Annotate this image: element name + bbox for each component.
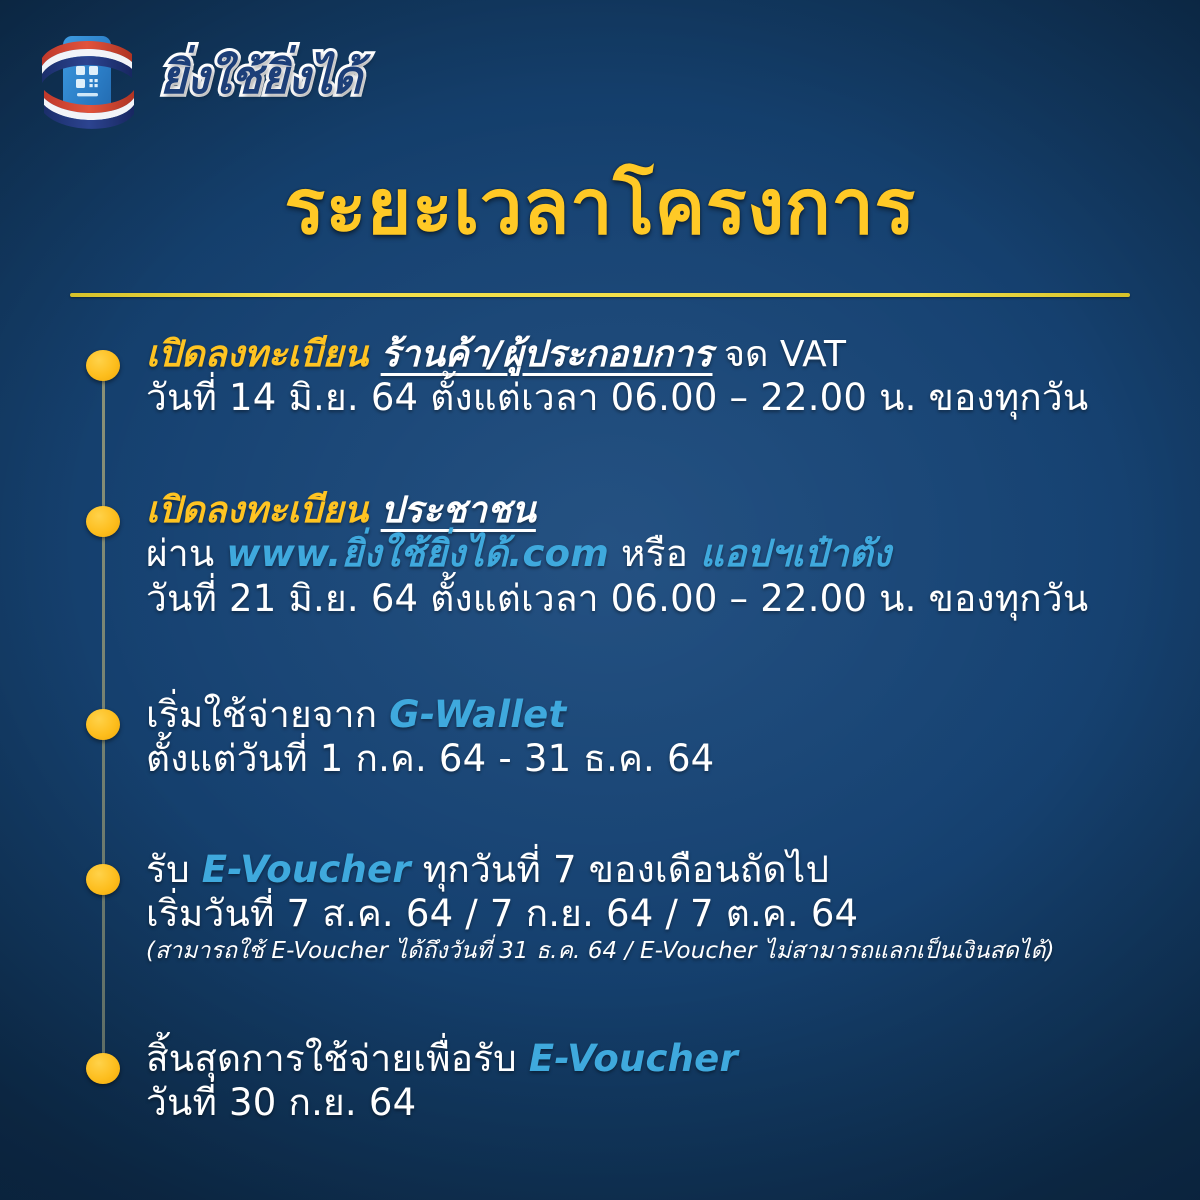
brand-header: ยิ่งใช้ยิ่งได้ [34, 24, 362, 136]
timeline-text-segment: จด VAT [712, 334, 846, 375]
timeline-text-segment: ร้านค้า/ผู้ประกอบการ [381, 334, 713, 375]
timeline-dot-icon [86, 506, 120, 537]
timeline-line: ผ่าน www.ยิ่งใช้ยิ่งได้.com หรือ แอปฯเป๋… [146, 532, 1186, 576]
timeline-text-segment: รับ [146, 848, 202, 891]
timeline-text-segment: ตั้งแต่วันที่ 1 ก.ค. 64 - 31 ธ.ค. 64 [146, 737, 714, 780]
timeline-text-segment: www.ยิ่งใช้ยิ่งได้.com [226, 532, 609, 575]
timeline-line: วันที่ 14 มิ.ย. 64 ตั้งแต่เวลา 06.00 – 2… [146, 376, 1186, 420]
title-divider [70, 293, 1130, 297]
brand-wordmark: ยิ่งใช้ยิ่งได้ [160, 54, 362, 106]
timeline-dot-icon [86, 350, 120, 381]
timeline-text-segment: ทุกวันที่ 7 ของเดือนถัดไป [411, 848, 829, 891]
timeline-line: รับ E-Voucher ทุกวันที่ 7 ของเดือนถัดไป [146, 848, 1186, 892]
timeline-text-segment: เปิดลงทะเบียน [146, 334, 381, 375]
timeline-line: เปิดลงทะเบียน ร้านค้า/ผู้ประกอบการ จด VA… [146, 334, 1186, 376]
timeline-text-segment: เปิดลงทะเบียน [146, 490, 381, 531]
timeline-line: เริ่มวันที่ 7 ส.ค. 64 / 7 ก.ย. 64 / 7 ต.… [146, 892, 1186, 936]
timeline-text-segment: ประชาชน [381, 490, 536, 531]
timeline-dot-icon [86, 1053, 120, 1084]
timeline-text-segment: E-Voucher [202, 848, 411, 891]
timeline-line: เริ่มใช้จ่ายจาก G-Wallet [146, 693, 1186, 737]
timeline-line: ตั้งแต่วันที่ 1 ก.ค. 64 - 31 ธ.ค. 64 [146, 737, 1186, 781]
page-title: ระยะเวลาโครงการ [0, 166, 1200, 248]
timeline-text-segment: สิ้นสุดการใช้จ่ายเพื่อรับ [146, 1037, 529, 1080]
timeline-text-segment: ผ่าน [146, 532, 226, 575]
timeline-line: วันที่ 21 มิ.ย. 64 ตั้งแต่เวลา 06.00 – 2… [146, 577, 1186, 621]
timeline-text-segment: วันที่ 21 มิ.ย. 64 ตั้งแต่เวลา 06.00 – 2… [146, 577, 1088, 620]
poster-canvas: ยิ่งใช้ยิ่งได้ ระยะเวลาโครงการ เปิดลงทะเ… [0, 0, 1200, 1200]
timeline-text-segment: G-Wallet [389, 693, 566, 736]
timeline-text-segment: เริ่มวันที่ 7 ส.ค. 64 / 7 ก.ย. 64 / 7 ต.… [146, 892, 858, 935]
timeline-item-body: รับ E-Voucher ทุกวันที่ 7 ของเดือนถัดไปเ… [146, 848, 1186, 966]
timeline-line: เปิดลงทะเบียน ประชาชน [146, 490, 1186, 532]
timeline-item-body: เริ่มใช้จ่ายจาก G-Walletตั้งแต่วันที่ 1 … [146, 693, 1186, 782]
timeline-text-segment: วันที่ 30 ก.ย. 64 [146, 1081, 416, 1124]
timeline-item-body: เปิดลงทะเบียน ร้านค้า/ผู้ประกอบการ จด VA… [146, 334, 1186, 421]
timeline-text-segment: เริ่มใช้จ่ายจาก [146, 693, 389, 736]
timeline-line: วันที่ 30 ก.ย. 64 [146, 1081, 1186, 1125]
timeline-text-segment: วันที่ 14 มิ.ย. 64 ตั้งแต่เวลา 06.00 – 2… [146, 376, 1088, 419]
timeline-text-segment: (สามารถใช้ E-Voucher ได้ถึงวันที่ 31 ธ.ค… [146, 938, 1055, 964]
timeline-dot-icon [86, 709, 120, 740]
timeline-item-body: สิ้นสุดการใช้จ่ายเพื่อรับ E-Voucherวันที… [146, 1037, 1186, 1126]
timeline-line: (สามารถใช้ E-Voucher ได้ถึงวันที่ 31 ธ.ค… [146, 937, 1186, 966]
timeline-line: สิ้นสุดการใช้จ่ายเพื่อรับ E-Voucher [146, 1037, 1186, 1081]
timeline-text-segment: แอปฯเป๋าตัง [700, 532, 891, 575]
timeline-text-segment: E-Voucher [529, 1037, 738, 1080]
timeline-text-segment: หรือ [609, 532, 700, 575]
timeline-item-body: เปิดลงทะเบียน ประชาชนผ่าน www.ยิ่งใช้ยิ่… [146, 490, 1186, 621]
timeline-dot-icon [86, 864, 120, 895]
g-wallet-phone-ribbon-logo [34, 24, 142, 136]
